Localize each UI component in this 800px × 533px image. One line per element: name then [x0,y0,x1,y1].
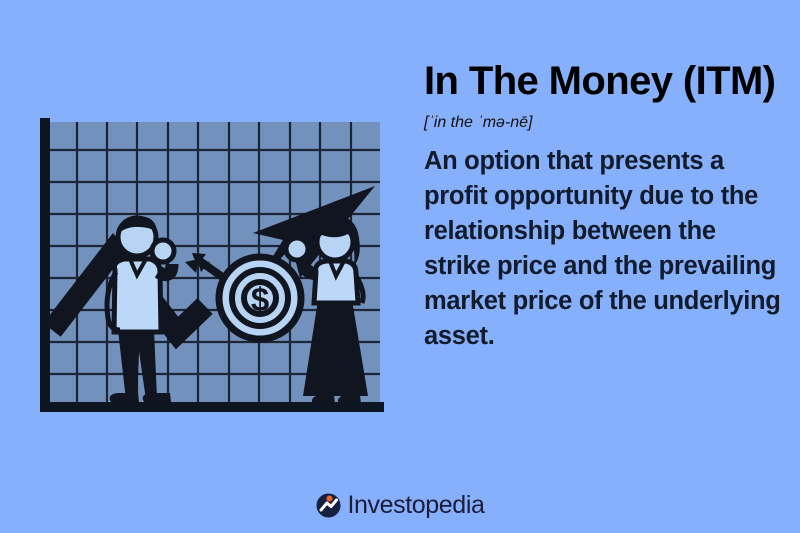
definition-text: An option that presents a profit opportu… [424,144,784,354]
definition-panel: In The Money (ITM) [ˈin the ˈmə-nē] An o… [424,58,784,354]
y-axis [40,118,50,412]
dollar-sign-label: $ [251,281,269,318]
illustration-svg: $ [0,0,400,470]
investopedia-logo-icon [316,493,341,518]
page-title: In The Money (ITM) [424,58,784,105]
x-axis [40,402,384,412]
stock-chart-illustration: $ [0,0,400,470]
pronunciation-text: [ˈin the ˈmə-nē] [424,113,784,133]
infographic-card: $ [0,0,800,533]
investopedia-wordmark: Investopedia [348,493,485,518]
investopedia-logo: Investopedia [0,493,800,518]
bullseye-target-icon: $ [219,257,301,339]
